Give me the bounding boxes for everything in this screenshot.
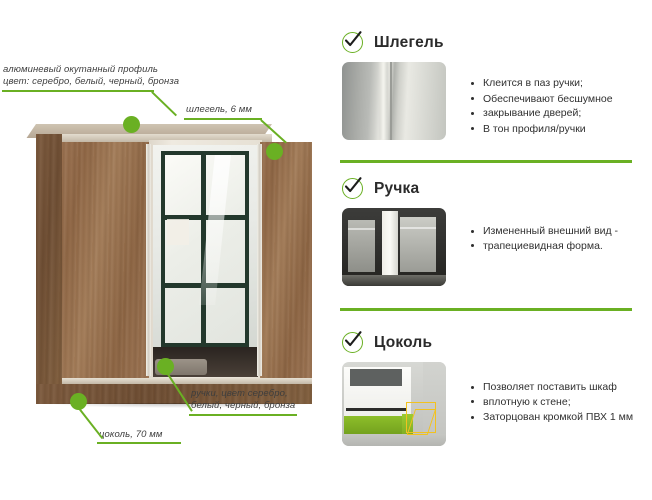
- handle-groove-right: [400, 227, 435, 229]
- feature-divider-handle: [340, 308, 632, 311]
- feature-card-plinth: Цоколь Позволяет поставить шкаф вплотную…: [320, 314, 652, 484]
- handle-groove-left: [348, 228, 375, 230]
- feature-bullets-plinth: Позволяет поставить шкаф вплотную к стен…: [470, 380, 650, 426]
- wardrobe-graphic: [36, 122, 276, 402]
- bullet-item: Заторцован кромкой ПВХ 1 мм: [470, 410, 650, 425]
- handle-right-panel: [400, 217, 435, 272]
- bullet-item: Позволяет поставить шкаф: [470, 380, 650, 395]
- callout-profile-line1: алюминевый окутанный профиль: [3, 64, 179, 76]
- feature-photo-shlegel: [342, 62, 446, 140]
- check-icon: [342, 32, 363, 53]
- bullet-item: Измененный внешний вид -: [470, 224, 645, 239]
- callout-shlegel-line1: шлегель, 6 мм: [186, 104, 252, 116]
- bullet-continuation: закрывание дверей;: [470, 106, 645, 121]
- bullet-item: Обеспечивают бесшумное: [470, 92, 645, 107]
- wardrobe-door-left: [62, 142, 150, 378]
- wardrobe-handle-right: [257, 144, 262, 376]
- callout-shlegel-rule: [184, 118, 262, 120]
- handle-profile-post: [382, 211, 399, 280]
- check-icon: [342, 332, 363, 353]
- page-root: алюминевый окутанный профиль цвет: сереб…: [0, 0, 652, 500]
- feature-card-handle: Ручка Измененный внешний вид - трапециев…: [320, 166, 652, 314]
- mirror-object-reflection: [167, 219, 189, 245]
- features-panel: Шлегель Клеится в паз ручки; Обеспечиваю…: [320, 0, 652, 500]
- bullet-item: Клеится в паз ручки;: [470, 76, 645, 91]
- shlegel-seam: [390, 62, 392, 140]
- feature-title-shlegel: Шлегель: [374, 34, 444, 52]
- callout-handles-line2: белый, черный, бронза: [191, 400, 295, 412]
- feature-photo-handle: [342, 208, 446, 286]
- plinth-floor: [342, 434, 446, 446]
- callout-profile-line2: цвет: серебро, белый, черный, бронза: [3, 76, 179, 88]
- bullet-continuation: трапециевидная форма.: [470, 239, 645, 254]
- wardrobe-handle-left: [146, 144, 151, 376]
- marker-dot-base: [70, 393, 87, 410]
- plinth-shadow-gap: [346, 408, 406, 411]
- bullet-continuation: вплотную к стене;: [470, 395, 650, 410]
- wardrobe-door-right: [260, 142, 312, 378]
- feature-title-handle: Ручка: [374, 180, 419, 198]
- bullet-continuation-text: закрывание дверей;: [483, 107, 581, 119]
- feature-card-shlegel: Шлегель Клеится в паз ручки; Обеспечиваю…: [320, 14, 652, 166]
- callout-profile-rule: [2, 90, 154, 92]
- wardrobe-mirror-panel: [153, 145, 258, 377]
- callout-base: цоколь, 70 мм: [99, 429, 162, 441]
- plinth-cabinet-drawer: [350, 369, 402, 386]
- callout-base-rule: [97, 442, 181, 444]
- feature-header-shlegel: Шлегель: [342, 32, 444, 53]
- callout-handles: ручки, цвет серебро, белый, черный, брон…: [191, 388, 295, 412]
- wardrobe-illustration-panel: алюминевый окутанный профиль цвет: сереб…: [0, 0, 320, 500]
- callout-base-leader: [77, 406, 103, 439]
- marker-dot-profile: [123, 116, 140, 133]
- feature-photo-plinth: [342, 362, 446, 446]
- callout-shlegel: шлегель, 6 мм: [186, 104, 252, 116]
- callout-profile: алюминевый окутанный профиль цвет: сереб…: [3, 64, 179, 88]
- bullet-item: В тон профиля/ручки: [470, 122, 645, 137]
- handle-track-base: [342, 275, 446, 286]
- bullet-continuation-text: трапециевидная форма.: [483, 240, 603, 252]
- feature-header-handle: Ручка: [342, 178, 419, 199]
- shlegel-brush-strip: [379, 62, 387, 140]
- bullet-continuation-text: вплотную к стене;: [483, 396, 571, 408]
- feature-title-plinth: Цоколь: [374, 334, 432, 352]
- callout-handles-line1: ручки, цвет серебро,: [191, 388, 295, 400]
- callout-base-line1: цоколь, 70 мм: [99, 429, 162, 441]
- feature-bullets-shlegel: Клеится в паз ручки; Обеспечивают бесшум…: [470, 76, 645, 137]
- feature-bullets-handle: Измененный внешний вид - трапециевидная …: [470, 224, 645, 254]
- callout-profile-leader: [151, 91, 177, 116]
- check-icon: [342, 178, 363, 199]
- marker-dot-handle: [157, 358, 174, 375]
- feature-divider-shlegel: [340, 160, 632, 163]
- wardrobe-left-side: [36, 134, 64, 384]
- feature-header-plinth: Цоколь: [342, 332, 432, 353]
- marker-dot-shlegel: [266, 143, 283, 160]
- wardrobe-mirror-frame: [149, 140, 262, 382]
- callout-handles-rule: [189, 414, 297, 416]
